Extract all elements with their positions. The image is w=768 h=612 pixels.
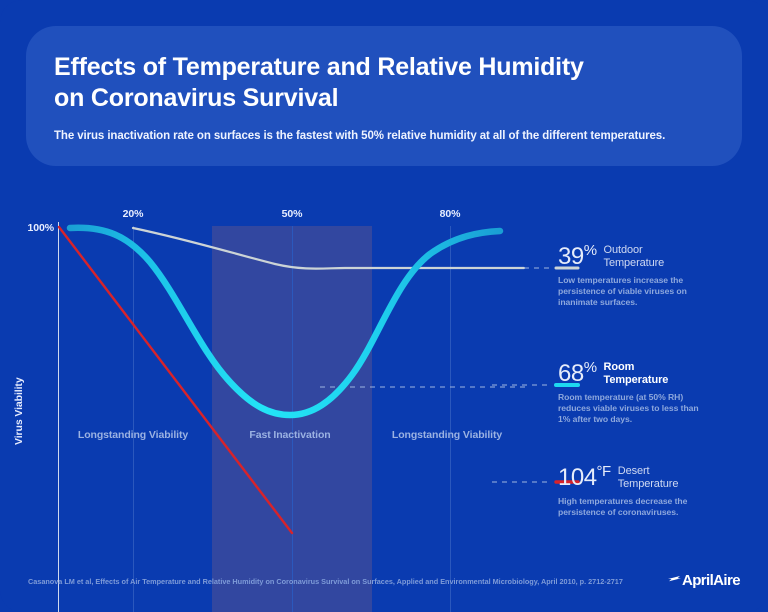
page-title: Effects of Temperature and Relative Humi… [54, 52, 714, 114]
brand-name: AprilAire [682, 572, 740, 589]
legend-label-desert: Desert Temperature [618, 464, 679, 491]
legend-head: 104°F Desert Temperature [558, 464, 758, 491]
legend-unit-outdoor: % [584, 242, 597, 259]
footer: Casanova LM et al, Effects of Air Temper… [0, 572, 768, 612]
infographic-root: Effects of Temperature and Relative Humi… [0, 0, 768, 612]
legend-unit-room: % [584, 359, 597, 376]
header-card: Effects of Temperature and Relative Humi… [26, 26, 742, 166]
legend-description-room: Room temperature (at 50% RH) reduces via… [558, 392, 758, 425]
legend-item-outdoor-temperature: 39% Outdoor Temperature Low temperatures… [558, 243, 758, 308]
legend-number-room: 68 [558, 360, 584, 387]
legend-label-outdoor: Outdoor Temperature [604, 243, 665, 270]
series-line-desert [59, 227, 292, 533]
legend-number-desert: 104 [558, 464, 597, 491]
legend-item-desert-temperature: 104°F Desert Temperature High temperatur… [558, 464, 758, 518]
legend-item-room-temperature: 68% Room Temperature Room temperature (a… [558, 360, 758, 425]
legend-head: 39% Outdoor Temperature [558, 243, 758, 270]
legend-value-desert: 104°F [558, 464, 611, 490]
legend-value-outdoor: 39% [558, 243, 597, 269]
legend-unit-desert: °F [597, 463, 611, 480]
swoosh-icon [667, 574, 682, 588]
aprilaire-logo: AprilAire [667, 572, 740, 589]
legend-description-outdoor: Low temperatures increase the persistenc… [558, 275, 758, 308]
legend-value-room: 68% [558, 360, 597, 386]
legend-number-outdoor: 39 [558, 243, 584, 270]
legend-head: 68% Room Temperature [558, 360, 758, 387]
page-subtitle: The virus inactivation rate on surfaces … [54, 129, 726, 144]
citation-text: Casanova LM et al, Effects of Air Temper… [28, 577, 623, 586]
legend-label-room: Room Temperature [604, 360, 669, 387]
legend-description-desert: High temperatures decrease the persisten… [558, 496, 758, 518]
series-line-room [70, 228, 500, 415]
